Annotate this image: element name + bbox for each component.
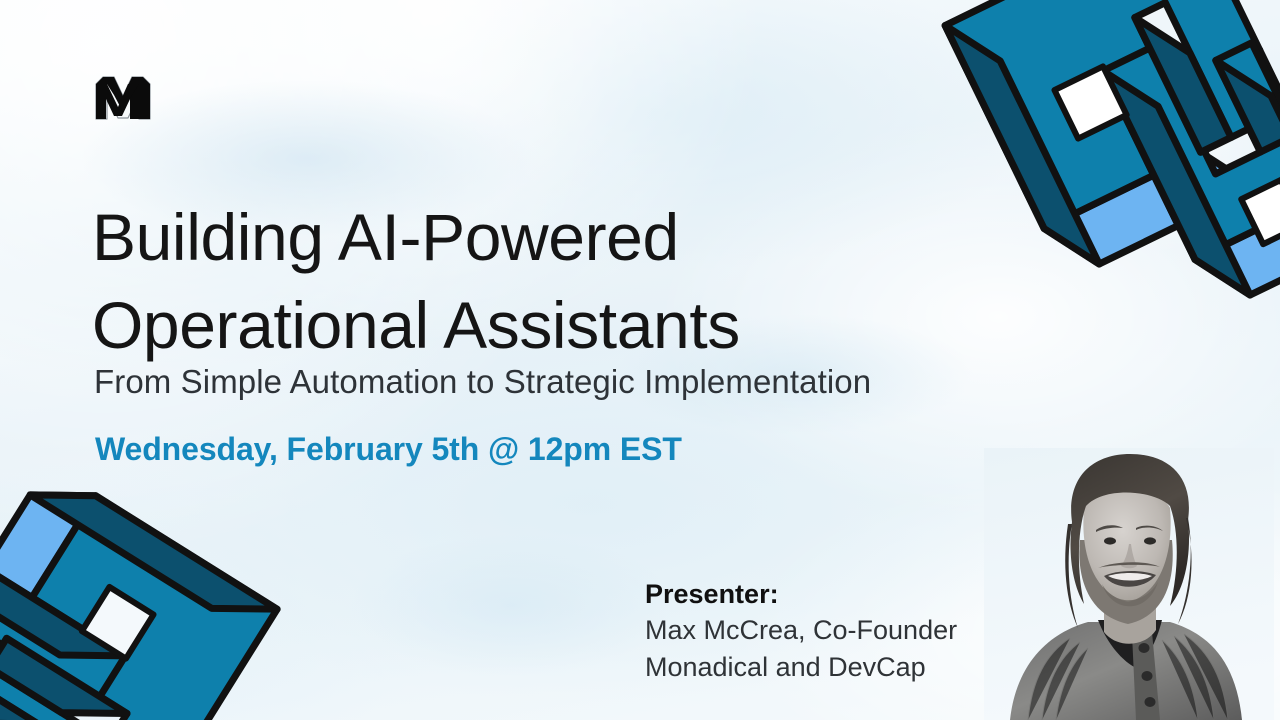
presenter-label: Presenter: xyxy=(645,576,957,612)
presenter-organization: Monadical and DevCap xyxy=(645,649,957,686)
webinar-title-slide: Building AI-Powered Operational Assistan… xyxy=(0,0,1280,720)
presenter-photo xyxy=(984,448,1274,720)
page-title: Building AI-Powered Operational Assistan… xyxy=(92,194,892,370)
presenter-name: Max McCrea, Co-Founder xyxy=(645,612,957,649)
page-subtitle: From Simple Automation to Strategic Impl… xyxy=(94,362,871,402)
monadical-m-logo-icon xyxy=(92,66,154,128)
event-datetime: Wednesday, February 5th @ 12pm EST xyxy=(95,430,682,468)
presenter-block: Presenter: Max McCrea, Co-Founder Monadi… xyxy=(645,576,957,686)
